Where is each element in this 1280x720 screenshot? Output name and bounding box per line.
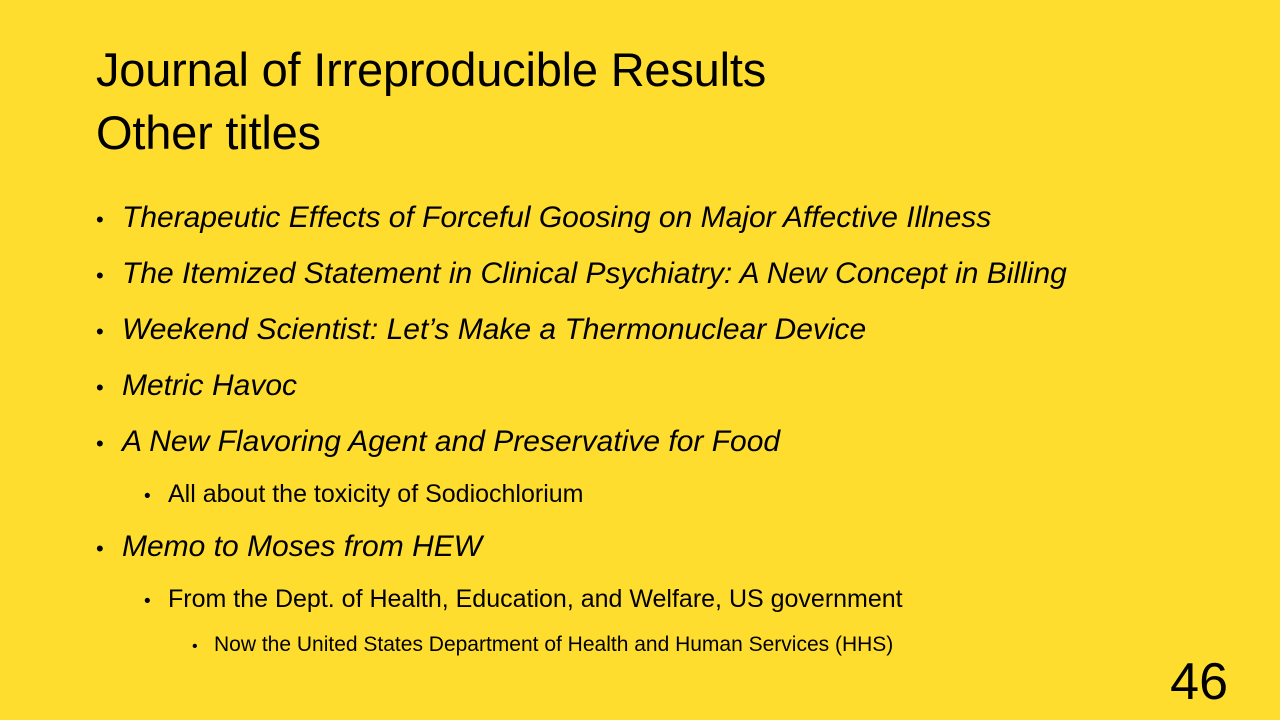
bullet-dot-icon: • [96, 522, 122, 576]
bullet-dot-icon: • [96, 193, 122, 247]
bullet-item-level-1: •A New Flavoring Agent and Preservative … [96, 415, 1236, 471]
bullet-text: Memo to Moses from HEW [122, 520, 1236, 574]
bullet-dot-icon: • [96, 249, 122, 303]
bullet-text: Therapeutic Effects of Forceful Goosing … [122, 191, 1236, 245]
bullet-dot-icon: • [144, 578, 168, 625]
bullet-text: All about the toxicity of Sodiochlorium [168, 471, 1236, 518]
bullet-text: Weekend Scientist: Let’s Make a Thermonu… [122, 303, 1236, 357]
bullet-item-level-3: •Now the United States Department of Hea… [96, 625, 1236, 667]
bullet-item-level-1: •Weekend Scientist: Let’s Make a Thermon… [96, 303, 1236, 359]
bullet-dot-icon: • [96, 305, 122, 359]
bullet-item-level-2: •All about the toxicity of Sodiochlorium [96, 471, 1236, 520]
bullet-text: A New Flavoring Agent and Preservative f… [122, 415, 1236, 469]
presentation-slide: Journal of Irreproducible Results Other … [0, 0, 1280, 720]
bullet-dot-icon: • [192, 627, 214, 667]
bullet-item-level-1: •Therapeutic Effects of Forceful Goosing… [96, 191, 1236, 247]
bullet-text: From the Dept. of Health, Education, and… [168, 576, 1236, 623]
bullet-dot-icon: • [96, 417, 122, 471]
bullet-item-level-1: •Metric Havoc [96, 359, 1236, 415]
bullet-item-level-1: •The Itemized Statement in Clinical Psyc… [96, 247, 1236, 303]
bullet-text: Now the United States Department of Heal… [214, 625, 1236, 665]
bullet-item-level-1: •Memo to Moses from HEW [96, 520, 1236, 576]
bullet-list: •Therapeutic Effects of Forceful Goosing… [96, 191, 1236, 667]
slide-number: 46 [1170, 652, 1228, 712]
slide-title: Journal of Irreproducible Results Other … [96, 38, 1196, 164]
bullet-text: Metric Havoc [122, 359, 1236, 413]
title-line-2: Other titles [96, 101, 1196, 164]
bullet-text: The Itemized Statement in Clinical Psych… [122, 247, 1236, 301]
bullet-dot-icon: • [144, 473, 168, 520]
title-line-1: Journal of Irreproducible Results [96, 38, 1196, 101]
bullet-dot-icon: • [96, 361, 122, 415]
bullet-item-level-2: •From the Dept. of Health, Education, an… [96, 576, 1236, 625]
